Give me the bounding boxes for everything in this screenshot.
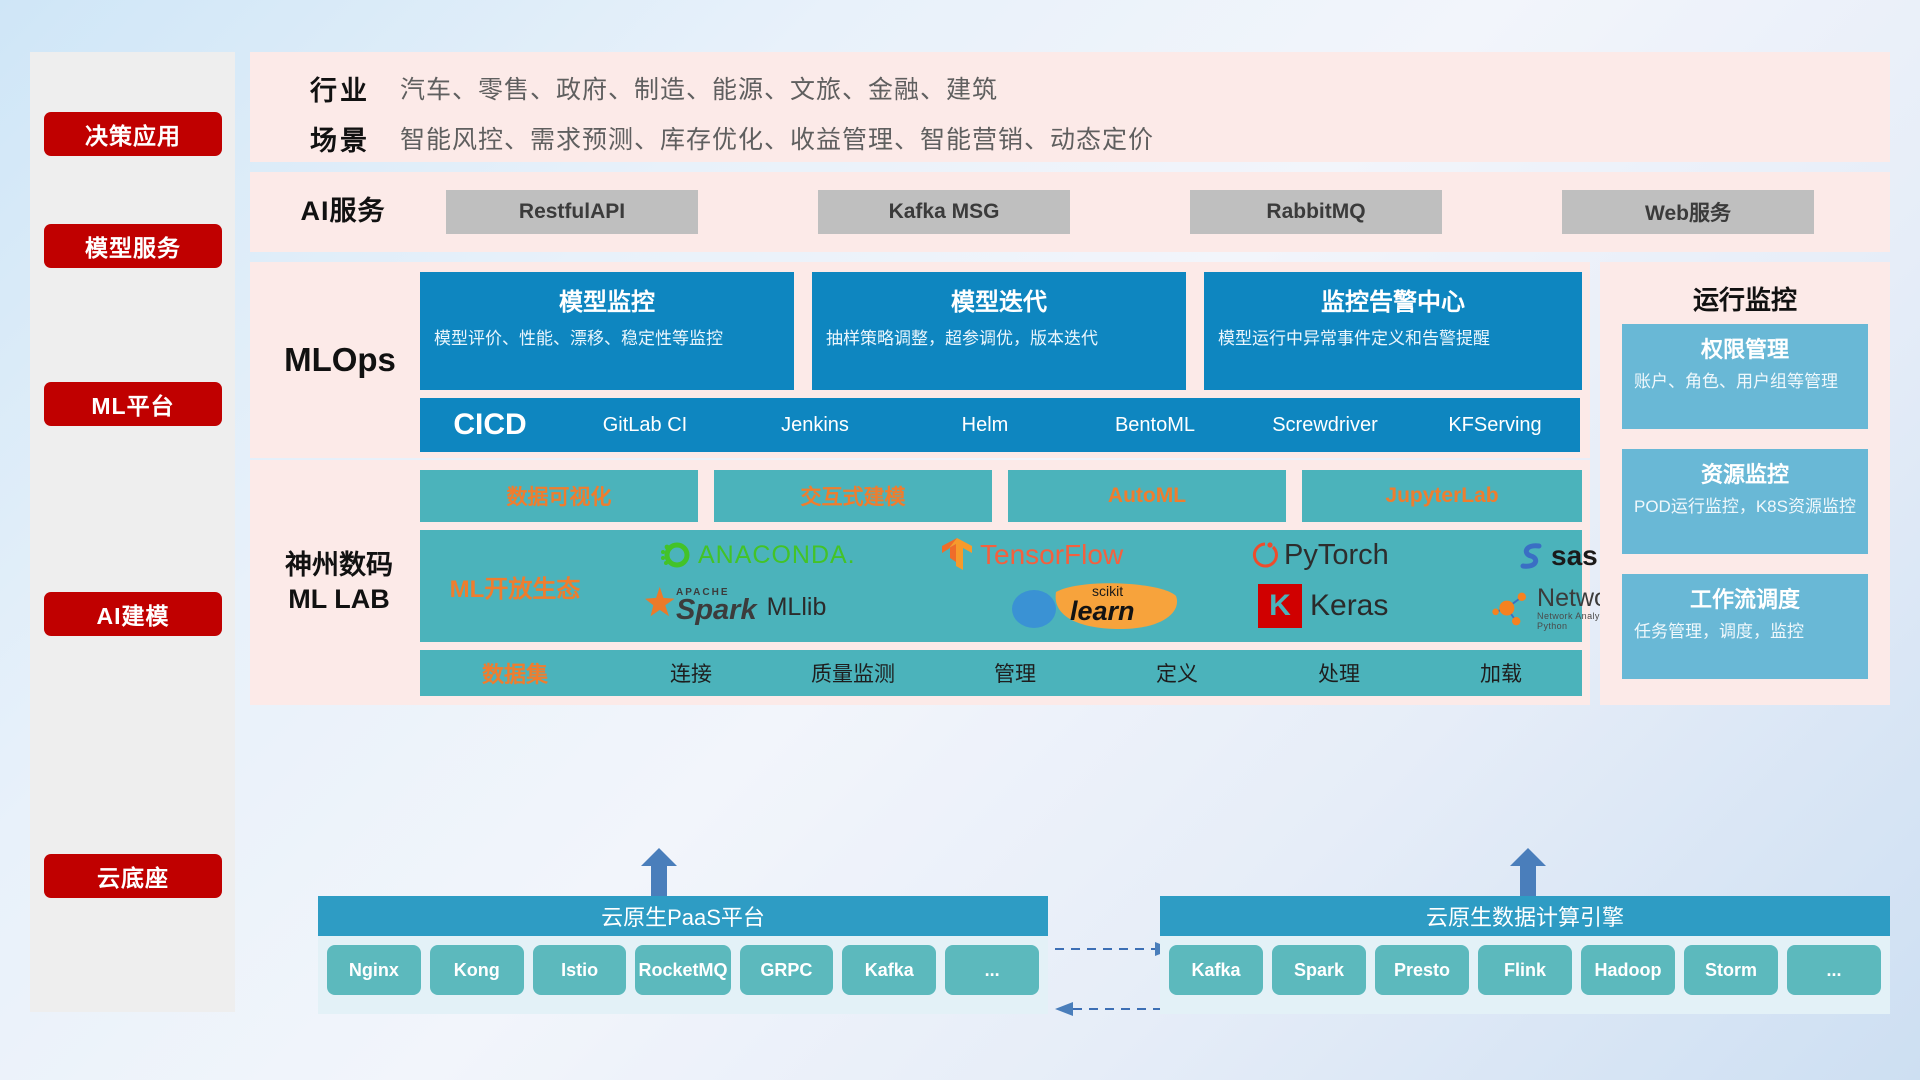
ops-card-desc: 抽样策略调整，超参调优，版本迭代 bbox=[826, 327, 1172, 352]
scikit-learn-logo: scikit learn bbox=[1010, 582, 1182, 632]
ops-card-desc: 模型运行中异常事件定义和告警提醒 bbox=[1218, 327, 1568, 352]
data-compute-engine-title: 云原生数据计算引擎 bbox=[1160, 896, 1890, 936]
arrow-up-compute-engine bbox=[1508, 848, 1548, 896]
compute-chip-presto[interactable]: Presto bbox=[1375, 945, 1469, 995]
paas-chip-kafka[interactable]: Kafka bbox=[842, 945, 936, 995]
compute-chip-flink[interactable]: Flink bbox=[1478, 945, 1572, 995]
paas-chip-grpc[interactable]: GRPC bbox=[740, 945, 834, 995]
paas-chip-more[interactable]: ... bbox=[945, 945, 1039, 995]
rail-item-ai-modeling[interactable]: AI建模 bbox=[44, 592, 222, 636]
networkx-mark bbox=[1490, 588, 1533, 630]
decision-application-panel: 行业 汽车、零售、政府、制造、能源、文旅、金融、建筑 场景 智能风控、需求预测、… bbox=[250, 52, 1890, 162]
spark-wordmark: Spark bbox=[676, 594, 757, 627]
mon-card-title: 权限管理 bbox=[1634, 332, 1856, 364]
tensorflow-logo: TensorFlow bbox=[940, 536, 1123, 574]
ml-open-ecosystem-title: ML开放生态 bbox=[420, 569, 610, 604]
paas-chip-rocketmq[interactable]: RocketMQ bbox=[635, 945, 730, 995]
mon-card-title: 工作流调度 bbox=[1634, 582, 1856, 614]
scenario-label: 场景 bbox=[280, 119, 400, 158]
scikit-orange-blob: scikit learn bbox=[1052, 582, 1182, 632]
paas-chip-group: Nginx Kong Istio RocketMQ GRPC Kafka ... bbox=[318, 936, 1048, 1004]
ops-card-title: 模型监控 bbox=[434, 282, 780, 317]
industry-line: 行业 汽车、零售、政府、制造、能源、文旅、金融、建筑 bbox=[280, 64, 998, 112]
ai-service-label: AI服务 bbox=[268, 172, 418, 252]
paas-chip-nginx[interactable]: Nginx bbox=[327, 945, 421, 995]
spark-mllib-logo: APACHE Spark MLlib bbox=[640, 586, 826, 628]
pytorch-wordmark: PyTorch bbox=[1284, 539, 1389, 572]
mon-card-desc: 账户、角色、用户组等管理 bbox=[1634, 370, 1856, 394]
spark-mark bbox=[640, 586, 680, 628]
mllib-wordmark: MLlib bbox=[767, 593, 827, 622]
pytorch-mark bbox=[1250, 538, 1280, 572]
left-rail: 决策应用 模型服务 ML平台 AI建模 云底座 bbox=[30, 52, 235, 1012]
runtime-monitoring-panel: 运行监控 权限管理 账户、角色、用户组等管理 资源监控 POD运行监控，K8S资… bbox=[1600, 262, 1890, 705]
compute-chip-more[interactable]: ... bbox=[1787, 945, 1881, 995]
tab-data-visualization[interactable]: 数据可视化 bbox=[420, 470, 698, 522]
service-chip-rabbitmq[interactable]: RabbitMQ bbox=[1190, 190, 1442, 234]
tab-jupyterlab[interactable]: JupyterLab bbox=[1302, 470, 1582, 522]
dataset-bar: 数据集 连接 质量监测 管理 定义 处理 加载 bbox=[420, 650, 1582, 696]
cicd-item-bentoml[interactable]: BentoML bbox=[1070, 415, 1240, 436]
cicd-item-kfserving[interactable]: KFServing bbox=[1410, 415, 1580, 436]
keras-mark: K bbox=[1258, 584, 1302, 628]
service-chip-web-service[interactable]: Web服务 bbox=[1562, 190, 1814, 234]
compute-chip-group: Kafka Spark Presto Flink Hadoop Storm ..… bbox=[1160, 936, 1890, 1004]
anaconda-mark bbox=[658, 538, 692, 572]
paas-platform-stack: 云原生PaaS平台 Nginx Kong Istio RocketMQ GRPC… bbox=[318, 896, 1048, 1014]
dataset-label: 数据集 bbox=[420, 657, 610, 689]
dataset-item-manage[interactable]: 管理 bbox=[934, 658, 1096, 688]
mon-card-workflow-scheduling[interactable]: 工作流调度 任务管理，调度，监控 bbox=[1622, 574, 1868, 679]
tab-automl[interactable]: AutoML bbox=[1008, 470, 1286, 522]
paas-chip-kong[interactable]: Kong bbox=[430, 945, 524, 995]
arrow-left-dashed bbox=[1055, 1000, 1175, 1018]
sas-mark bbox=[1515, 541, 1549, 571]
industry-value: 汽车、零售、政府、制造、能源、文旅、金融、建筑 bbox=[400, 70, 998, 106]
dataset-item-connect[interactable]: 连接 bbox=[610, 658, 772, 688]
rail-item-model-service[interactable]: 模型服务 bbox=[44, 224, 222, 268]
tensorflow-wordmark: TensorFlow bbox=[980, 539, 1123, 571]
mon-card-title: 资源监控 bbox=[1634, 457, 1856, 489]
mlops-label: MLOps bbox=[260, 262, 420, 458]
mon-card-desc: POD运行监控，K8S资源监控 bbox=[1634, 495, 1856, 519]
spark-wordmark-group: APACHE Spark bbox=[676, 587, 757, 627]
dataset-item-define[interactable]: 定义 bbox=[1096, 658, 1258, 688]
service-chip-restfulapi[interactable]: RestfulAPI bbox=[446, 190, 698, 234]
rail-item-decision-app[interactable]: 决策应用 bbox=[44, 112, 222, 156]
paas-platform-title: 云原生PaaS平台 bbox=[318, 896, 1048, 936]
dataset-item-quality[interactable]: 质量监测 bbox=[772, 658, 934, 688]
mon-card-desc: 任务管理，调度，监控 bbox=[1634, 620, 1856, 644]
mlops-panel: MLOps 模型监控 模型评价、性能、漂移、稳定性等监控 模型迭代 抽样策略调整… bbox=[250, 262, 1590, 458]
industry-label: 行业 bbox=[280, 69, 400, 108]
runtime-monitoring-title: 运行监控 bbox=[1600, 262, 1890, 317]
service-chip-kafka-msg[interactable]: Kafka MSG bbox=[818, 190, 1070, 234]
learn-text: learn bbox=[1070, 596, 1135, 627]
ecosystem-logo-group: ANACONDA. TensorFlow PyTorch bbox=[610, 530, 1582, 642]
ml-lab-label: 神州数码 ML LAB bbox=[258, 460, 420, 705]
rail-item-cloud-base[interactable]: 云底座 bbox=[44, 854, 222, 898]
arrow-up-paas bbox=[639, 848, 679, 896]
ops-card-alert-center[interactable]: 监控告警中心 模型运行中异常事件定义和告警提醒 bbox=[1204, 272, 1582, 390]
cicd-item-gitlab-ci[interactable]: GitLab CI bbox=[560, 415, 730, 436]
compute-chip-kafka[interactable]: Kafka bbox=[1169, 945, 1263, 995]
dataset-item-process[interactable]: 处理 bbox=[1258, 658, 1420, 688]
mon-card-resource-monitoring[interactable]: 资源监控 POD运行监控，K8S资源监控 bbox=[1622, 449, 1868, 554]
ml-open-ecosystem-box: ML开放生态 ANACONDA. TensorFlow bbox=[420, 530, 1582, 642]
tab-interactive-modeling[interactable]: 交互式建模 bbox=[714, 470, 992, 522]
ai-service-panel: AI服务 RestfulAPI Kafka MSG RabbitMQ Web服务 bbox=[250, 172, 1890, 252]
ml-lab-label-line1: 神州数码 bbox=[285, 549, 393, 583]
arrow-right-dashed bbox=[1055, 940, 1175, 958]
compute-chip-storm[interactable]: Storm bbox=[1684, 945, 1778, 995]
cicd-bar: CICD GitLab CI Jenkins Helm BentoML Scre… bbox=[420, 398, 1580, 452]
ops-card-desc: 模型评价、性能、漂移、稳定性等监控 bbox=[434, 327, 780, 352]
dataset-item-load[interactable]: 加载 bbox=[1420, 658, 1582, 688]
rail-item-ml-platform[interactable]: ML平台 bbox=[44, 382, 222, 426]
tensorflow-mark bbox=[940, 536, 974, 574]
keras-logo: K Keras bbox=[1258, 584, 1388, 628]
sas-wordmark: sas bbox=[1551, 540, 1598, 572]
ops-card-title: 模型迭代 bbox=[826, 282, 1172, 317]
ops-card-title: 监控告警中心 bbox=[1218, 282, 1568, 317]
cicd-item-helm[interactable]: Helm bbox=[900, 415, 1070, 436]
mon-card-permission-management[interactable]: 权限管理 账户、角色、用户组等管理 bbox=[1622, 324, 1868, 429]
cicd-label: CICD bbox=[420, 408, 560, 442]
ops-card-model-monitoring[interactable]: 模型监控 模型评价、性能、漂移、稳定性等监控 bbox=[420, 272, 794, 390]
pytorch-logo: PyTorch bbox=[1250, 538, 1389, 572]
ops-card-model-iteration[interactable]: 模型迭代 抽样策略调整，超参调优，版本迭代 bbox=[812, 272, 1186, 390]
anaconda-logo: ANACONDA. bbox=[658, 538, 856, 572]
keras-wordmark: Keras bbox=[1310, 589, 1388, 623]
ml-lab-label-line2: ML LAB bbox=[285, 583, 393, 617]
anaconda-wordmark: ANACONDA. bbox=[698, 541, 856, 570]
cicd-item-screwdriver[interactable]: Screwdriver bbox=[1240, 415, 1410, 436]
sas-logo: sas bbox=[1515, 540, 1598, 572]
paas-chip-istio[interactable]: Istio bbox=[533, 945, 627, 995]
scenario-value: 智能风控、需求预测、库存优化、收益管理、智能营销、动态定价 bbox=[400, 120, 1154, 156]
compute-chip-hadoop[interactable]: Hadoop bbox=[1581, 945, 1675, 995]
data-compute-engine-stack: 云原生数据计算引擎 Kafka Spark Presto Flink Hadoo… bbox=[1160, 896, 1890, 1014]
scenario-line: 场景 智能风控、需求预测、库存优化、收益管理、智能营销、动态定价 bbox=[280, 114, 1154, 162]
compute-chip-spark[interactable]: Spark bbox=[1272, 945, 1366, 995]
cicd-item-jenkins[interactable]: Jenkins bbox=[730, 415, 900, 436]
ai-modeling-panel: 神州数码 ML LAB 数据可视化 交互式建模 AutoML JupyterLa… bbox=[250, 460, 1590, 705]
